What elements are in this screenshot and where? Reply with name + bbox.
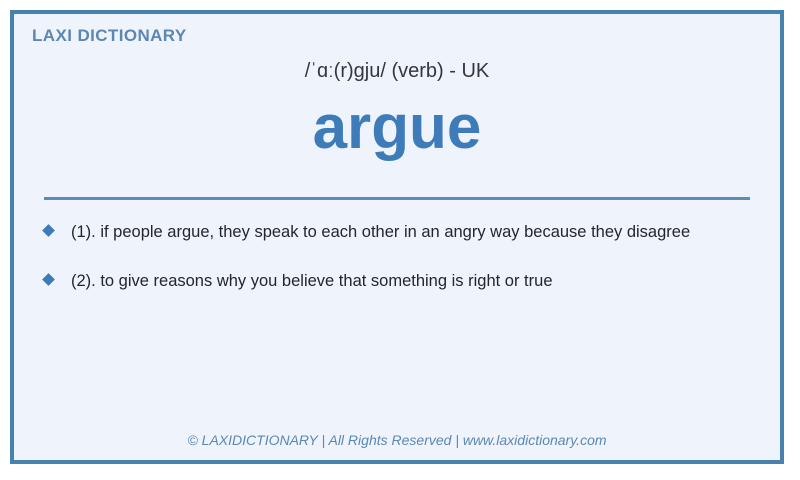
diamond-bullet-icon xyxy=(42,273,55,286)
list-item: (1). if people argue, they speak to each… xyxy=(36,219,750,246)
definition-text: (2). to give reasons why you believe tha… xyxy=(71,268,750,295)
list-item: (2). to give reasons why you believe tha… xyxy=(36,268,750,295)
diamond-bullet-icon xyxy=(42,224,55,237)
definition-text: (1). if people argue, they speak to each… xyxy=(71,219,750,246)
pronunciation-line: /ˈɑː(r)gju/ (verb) - UK xyxy=(14,60,780,83)
dictionary-card: LAXI DICTIONARY /ˈɑː(r)gju/ (verb) - UK … xyxy=(10,10,784,464)
divider xyxy=(44,197,750,200)
footer-copyright: © LAXIDICTIONARY | All Rights Reserved |… xyxy=(14,432,780,448)
headword: argue xyxy=(14,92,780,163)
brand-title: LAXI DICTIONARY xyxy=(32,26,187,46)
definition-list: (1). if people argue, they speak to each… xyxy=(36,219,750,317)
